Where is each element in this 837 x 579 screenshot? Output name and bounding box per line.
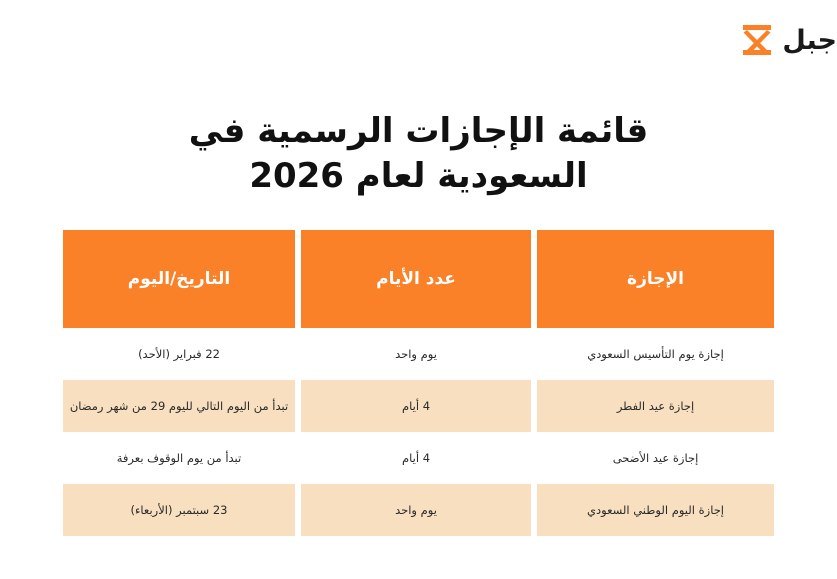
cell-days: يوم واحد	[301, 328, 531, 380]
cell-date: تبدأ من اليوم التالي لليوم 29 من شهر رمض…	[63, 380, 295, 432]
hourglass-logo-icon	[740, 23, 774, 57]
table-row: إجازة عيد الفطر 4 أيام تبدأ من اليوم الت…	[63, 380, 774, 432]
table-body: إجازة يوم التأسيس السعودي يوم واحد 22 فب…	[63, 328, 774, 536]
table-row: إجازة اليوم الوطني السعودي يوم واحد 23 س…	[63, 484, 774, 536]
page-title: قائمة الإجازات الرسمية في السعودية لعام …	[0, 109, 837, 199]
cell-date: 22 فبراير (الأحد)	[63, 328, 295, 380]
cell-days: يوم واحد	[301, 484, 531, 536]
cell-holiday: إجازة اليوم الوطني السعودي	[537, 484, 774, 536]
cell-days: 4 أيام	[301, 380, 531, 432]
cell-date: تبدأ من يوم الوقوف بعرفة	[63, 432, 295, 484]
cell-holiday: إجازة عيد الفطر	[537, 380, 774, 432]
cell-holiday: إجازة عيد الأضحى	[537, 432, 774, 484]
table-row: إجازة يوم التأسيس السعودي يوم واحد 22 فب…	[63, 328, 774, 380]
column-header-date: التاريخ/اليوم	[63, 230, 295, 328]
brand-header: جبل	[0, 16, 837, 64]
column-header-days: عدد الأيام	[301, 230, 531, 328]
logo-wordmark: جبل	[782, 27, 837, 54]
cell-days: 4 أيام	[301, 432, 531, 484]
cell-holiday: إجازة يوم التأسيس السعودي	[537, 328, 774, 380]
table-header-row: الإجازة عدد الأيام التاريخ/اليوم	[63, 230, 774, 328]
holidays-table: الإجازة عدد الأيام التاريخ/اليوم إجازة ي…	[63, 230, 774, 536]
logo[interactable]: جبل	[740, 23, 837, 57]
column-header-holiday: الإجازة	[537, 230, 774, 328]
table-row: إجازة عيد الأضحى 4 أيام تبدأ من يوم الوق…	[63, 432, 774, 484]
cell-date: 23 سبتمبر (الأربعاء)	[63, 484, 295, 536]
